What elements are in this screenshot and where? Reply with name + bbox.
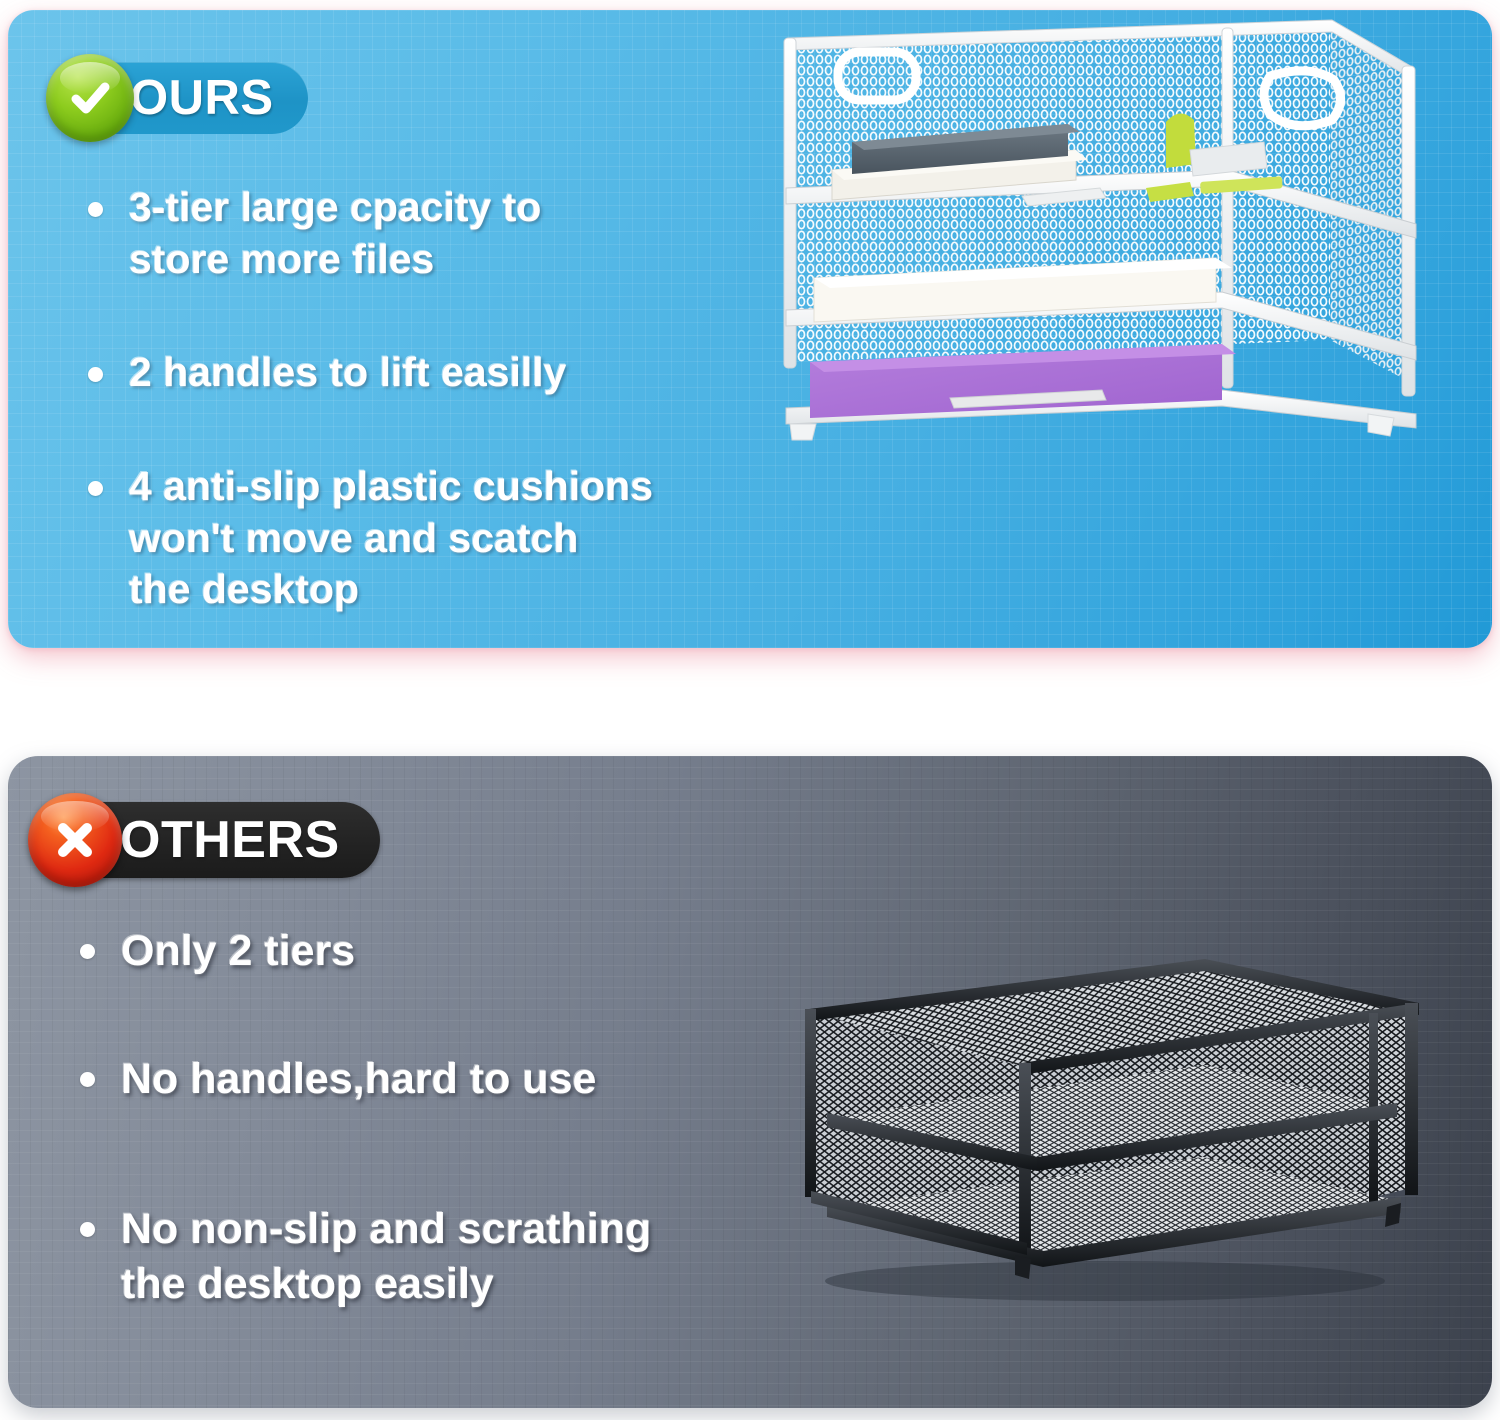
list-item: 4 anti-slip plastic cushions won't move … (88, 461, 768, 616)
bullet-text: Only 2 tiers (121, 924, 355, 978)
others-badge: OTHERS (40, 802, 380, 878)
others-bullet-list: Only 2 tiers No handles,hard to use No n… (80, 924, 800, 1311)
list-item: 3-tier large cpacity to store more files (88, 182, 768, 285)
others-panel: OTHERS Only 2 tiers No handles,hard to u… (8, 756, 1492, 1408)
bullet-dot-icon (80, 1072, 95, 1087)
bullet-dot-icon (88, 202, 103, 217)
bullet-dot-icon (80, 944, 95, 959)
list-item: No handles,hard to use (80, 1052, 800, 1106)
white-organizer-image (770, 10, 1430, 450)
bullet-text: 4 anti-slip plastic cushions won't move … (129, 461, 653, 616)
check-circle-icon (46, 54, 134, 142)
list-item: Only 2 tiers (80, 924, 800, 978)
bullet-text: No handles,hard to use (121, 1052, 596, 1106)
ours-panel: OURS 3-tier large cpacity to store more … (8, 10, 1492, 648)
bullet-dot-icon (88, 367, 103, 382)
ours-bullet-list: 3-tier large cpacity to store more files… (88, 182, 768, 616)
ours-badge: OURS (56, 62, 308, 134)
list-item: No non-slip and scrathing the desktop ea… (80, 1202, 800, 1310)
infographic-stage: OURS 3-tier large cpacity to store more … (0, 0, 1500, 1420)
bullet-text: No non-slip and scrathing the desktop ea… (121, 1202, 651, 1310)
others-badge-label: OTHERS (120, 810, 340, 870)
bullet-text: 2 handles to lift easilly (129, 347, 566, 399)
ours-badge-label: OURS (130, 70, 274, 126)
list-item: 2 handles to lift easilly (88, 347, 768, 399)
bullet-dot-icon (80, 1222, 95, 1237)
black-organizer-image (775, 955, 1435, 1315)
bullet-text: 3-tier large cpacity to store more files (129, 182, 541, 285)
bullet-dot-icon (88, 481, 103, 496)
cross-circle-icon (28, 793, 122, 887)
